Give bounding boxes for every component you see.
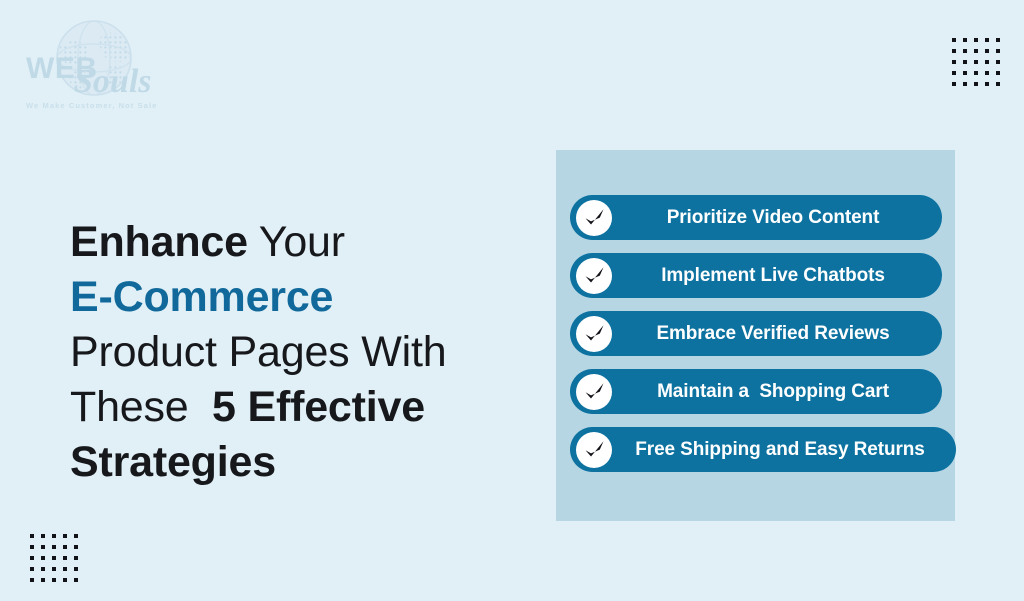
dot [74, 545, 78, 549]
dot [996, 82, 1000, 86]
headline-line-1: Enhance Your [70, 215, 490, 270]
dot [974, 71, 978, 75]
headline-word-these: These [70, 383, 212, 431]
dot [974, 60, 978, 64]
headline-word-strategies: Strategies [70, 438, 276, 486]
dot [30, 545, 34, 549]
dot [41, 545, 45, 549]
check-icon [576, 432, 612, 468]
headline-line-5: Strategies [70, 435, 490, 490]
checklist-item[interactable]: Implement Live Chatbots [570, 253, 942, 298]
check-icon [576, 200, 612, 236]
check-icon [576, 316, 612, 352]
dot [996, 49, 1000, 53]
dot [63, 567, 67, 571]
dot [41, 567, 45, 571]
dot [74, 567, 78, 571]
dot [974, 49, 978, 53]
checklist-item-label: Free Shipping and Easy Returns [570, 439, 956, 461]
check-icon [576, 258, 612, 294]
dot [952, 60, 956, 64]
dot [974, 38, 978, 42]
dot [996, 60, 1000, 64]
dot [63, 556, 67, 560]
dot [52, 578, 56, 582]
checklist-item-label: Implement Live Chatbots [570, 265, 942, 287]
headline-line-3: Product Pages With [70, 325, 490, 380]
headline-line-3-text: Product Pages With [70, 328, 446, 376]
dot [963, 49, 967, 53]
dot [952, 38, 956, 42]
headline-word-enhance: Enhance [70, 218, 248, 266]
logo-tagline: We Make Customer, Not Sale [26, 101, 157, 110]
dot [41, 578, 45, 582]
dot [985, 71, 989, 75]
dot [985, 38, 989, 42]
dot [952, 71, 956, 75]
dot [963, 60, 967, 64]
dot [41, 556, 45, 560]
dot [963, 82, 967, 86]
dot [974, 82, 978, 86]
dot-grid-decoration-top-right [952, 38, 1000, 86]
checklist-item[interactable]: Embrace Verified Reviews [570, 311, 942, 356]
brand-logo: WEB Souls We Make Customer, Not Sale [14, 16, 174, 112]
dot [985, 82, 989, 86]
headline-word-5-effective: 5 Effective [212, 383, 425, 431]
dot [74, 556, 78, 560]
dot [30, 578, 34, 582]
dot [52, 534, 56, 538]
dot [74, 534, 78, 538]
checklist-panel: Prioritize Video Content Implement Live … [556, 150, 955, 521]
page-headline: Enhance Your E-Commerce Product Pages Wi… [70, 215, 490, 490]
checklist-item-label: Prioritize Video Content [570, 207, 942, 229]
dot [985, 60, 989, 64]
dot [52, 556, 56, 560]
dot [74, 578, 78, 582]
dot [30, 567, 34, 571]
checklist-item-label: Maintain a Shopping Cart [570, 381, 942, 403]
logo-word-souls: Souls [74, 63, 152, 100]
dot [30, 556, 34, 560]
headline-word-ecommerce: E-Commerce [70, 273, 333, 321]
dot [63, 545, 67, 549]
checklist-item[interactable]: Maintain a Shopping Cart [570, 369, 942, 414]
checklist-item[interactable]: Prioritize Video Content [570, 195, 942, 240]
dot [63, 578, 67, 582]
dot [30, 534, 34, 538]
globe-icon: WEB Souls We Make Customer, Not Sale [14, 16, 174, 112]
dot [985, 49, 989, 53]
checklist-item-label: Embrace Verified Reviews [570, 323, 942, 345]
dot [963, 38, 967, 42]
dot-grid-decoration-bottom-left [30, 534, 78, 582]
headline-line-4: These 5 Effective [70, 380, 490, 435]
dot [963, 71, 967, 75]
headline-line-2: E-Commerce [70, 270, 490, 325]
headline-word-your: Your [248, 218, 345, 266]
check-icon [576, 374, 612, 410]
dot [41, 534, 45, 538]
dot [996, 38, 1000, 42]
dot [52, 567, 56, 571]
dot [52, 545, 56, 549]
dot [63, 534, 67, 538]
dot [952, 49, 956, 53]
checklist: Prioritize Video Content Implement Live … [556, 150, 955, 521]
dot [996, 71, 1000, 75]
checklist-item[interactable]: Free Shipping and Easy Returns [570, 427, 956, 472]
dot [952, 82, 956, 86]
